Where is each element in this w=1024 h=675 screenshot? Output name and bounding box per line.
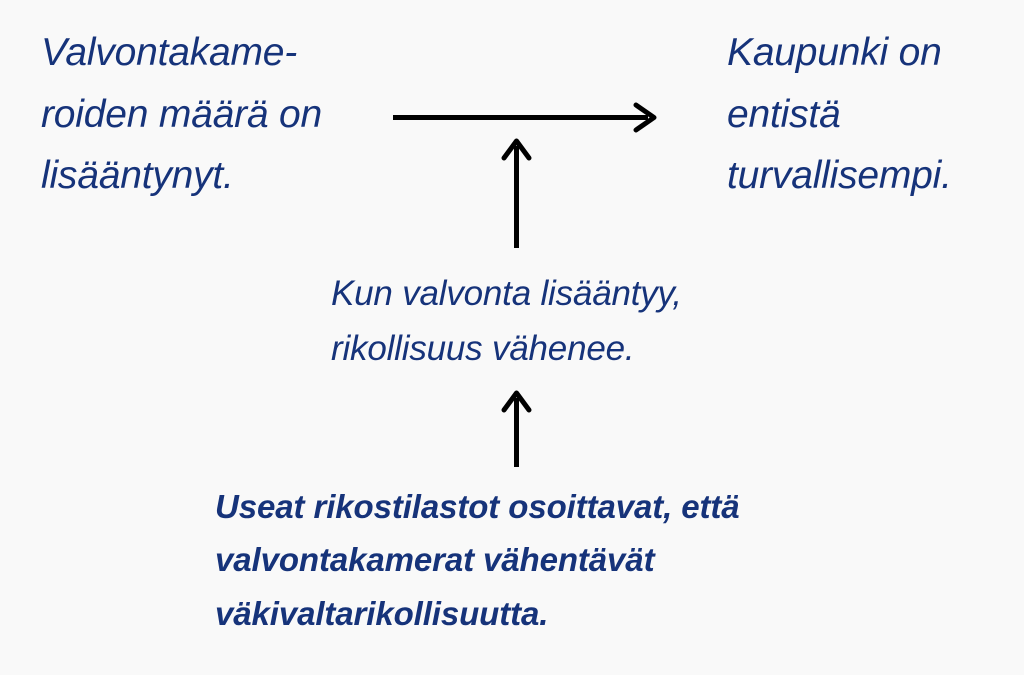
warrant-text: Kun valvonta lisääntyy, rikollisuus vähe… <box>331 266 781 377</box>
slide-canvas: Valvontakame- roiden määrä on lisääntyny… <box>0 0 1024 675</box>
conclusion-text: Kaupunki on entistä turvallisempi. <box>727 22 1017 207</box>
arrow-up-icon <box>496 388 538 472</box>
premise-text: Valvontakame- roiden määrä on lisääntyny… <box>41 22 391 207</box>
backing-text: Useat rikostilastot osoittavat, että val… <box>215 480 915 640</box>
arrow-up-icon <box>496 136 538 254</box>
arrow-right-icon <box>390 100 662 136</box>
